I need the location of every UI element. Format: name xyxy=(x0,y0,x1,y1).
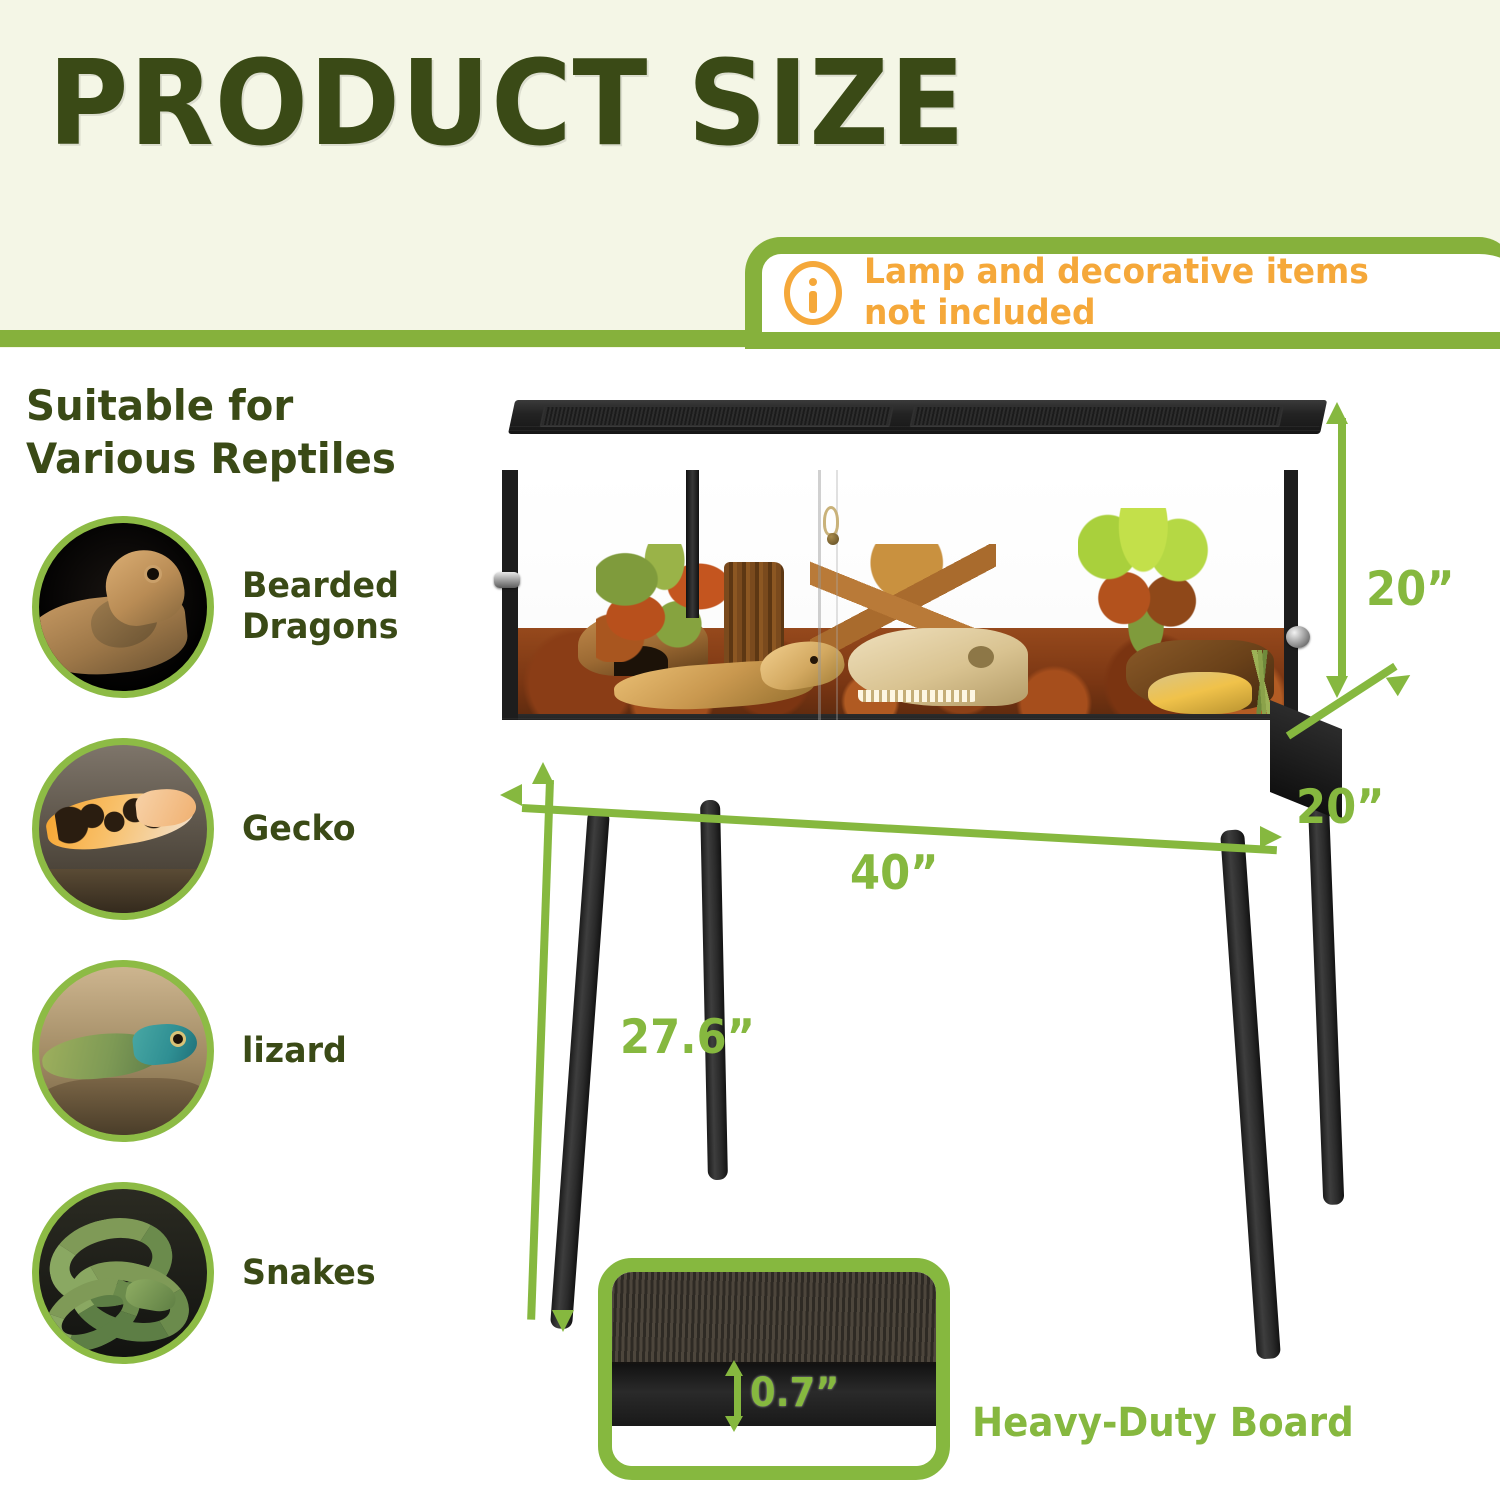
heavy-duty-board-inset: 0.7” xyxy=(598,1258,950,1480)
sidebar-heading: Suitable for Various Reptiles xyxy=(26,380,443,485)
reptile-label-line-1: Bearded xyxy=(242,566,399,607)
glass-sliding-doors xyxy=(502,470,1298,720)
callout-text: Lamp and decorative items not included xyxy=(864,252,1369,335)
reptile-label-line-1: lizard xyxy=(242,1031,347,1072)
product-size-infographic: PRODUCT SIZE Lamp and decorative items n… xyxy=(0,0,1500,1489)
door-pull-ring[interactable] xyxy=(823,506,839,536)
bearded-dragon-photo xyxy=(32,516,214,698)
info-icon xyxy=(784,261,842,325)
not-included-callout: Lamp and decorative items not included xyxy=(745,237,1500,349)
reptile-label-line-1: Snakes xyxy=(242,1253,376,1294)
list-item: Gecko xyxy=(0,729,460,929)
height-dimension-line xyxy=(1338,418,1346,680)
reptile-label: Bearded Dragons xyxy=(242,566,399,647)
door-knob-right[interactable] xyxy=(1286,626,1310,648)
stand-leg-front-left xyxy=(550,809,610,1329)
reptile-label-line-1: Gecko xyxy=(242,809,356,850)
reptile-label: Snakes xyxy=(242,1253,376,1294)
depth-dimension-label: 20” xyxy=(1296,780,1385,835)
stand-height-arrow-down-icon xyxy=(552,1310,574,1332)
board-top-surface xyxy=(612,1272,936,1364)
door-knob-left[interactable] xyxy=(494,572,520,588)
suitable-reptiles-sidebar: Suitable for Various Reptiles Bearded Dr… xyxy=(0,380,460,1430)
stand-leg-back-left xyxy=(700,800,728,1180)
width-arrow-right-icon xyxy=(1260,826,1282,848)
reptile-label: Gecko xyxy=(242,809,356,850)
glass-door-seam-secondary xyxy=(836,470,838,720)
board-caption: Heavy-Duty Board xyxy=(972,1400,1354,1446)
board-thickness-arrow-down-icon xyxy=(725,1416,743,1432)
page-title: PRODUCT SIZE xyxy=(48,44,966,162)
list-item: lizard xyxy=(0,951,460,1151)
board-thickness-line xyxy=(734,1372,741,1420)
list-item: Snakes xyxy=(0,1173,460,1373)
snake-photo xyxy=(32,1182,214,1364)
stand-height-dimension-label: 27.6” xyxy=(620,1010,755,1065)
leafy-plant-decoration xyxy=(1078,508,1214,658)
stand-leg-back-right xyxy=(1308,805,1344,1206)
lizard-photo xyxy=(32,960,214,1142)
board-inset-background xyxy=(612,1426,936,1480)
height-arrow-up-icon xyxy=(1326,402,1348,424)
callout-line-1: Lamp and decorative items xyxy=(864,252,1369,293)
dinosaur-skull-decoration xyxy=(848,628,1028,706)
stand-height-dimension-line xyxy=(527,780,554,1320)
stand-height-arrow-up-icon xyxy=(532,762,554,784)
reptile-label: lizard xyxy=(242,1031,347,1072)
reptile-list: Bearded Dragons Gecko lizard xyxy=(0,507,460,1373)
stand-leg-front-right xyxy=(1220,829,1281,1359)
terrarium-tank xyxy=(480,400,1320,820)
height-dimension-label: 20” xyxy=(1366,562,1455,617)
sidebar-heading-line-1: Suitable for xyxy=(26,380,443,433)
list-item: Bearded Dragons xyxy=(0,507,460,707)
tank-base-rail xyxy=(480,718,1320,776)
header-divider-bar xyxy=(0,330,755,347)
board-thickness-label: 0.7” xyxy=(750,1370,839,1416)
tank-top-rail xyxy=(480,426,1320,472)
tank-mid-post xyxy=(686,470,699,618)
lid-mesh-panel-right xyxy=(909,405,1284,427)
gecko-photo xyxy=(32,738,214,920)
bearded-dragon-in-tank xyxy=(614,640,846,712)
width-arrow-left-icon xyxy=(500,784,522,806)
callout-line-2: not included xyxy=(864,293,1369,334)
sidebar-heading-line-2: Various Reptiles xyxy=(26,433,443,486)
width-dimension-label: 40” xyxy=(850,846,939,901)
lid-mesh-panel-left xyxy=(539,405,894,427)
glass-door-seam xyxy=(818,470,821,720)
reptile-label-line-2: Dragons xyxy=(242,607,399,648)
